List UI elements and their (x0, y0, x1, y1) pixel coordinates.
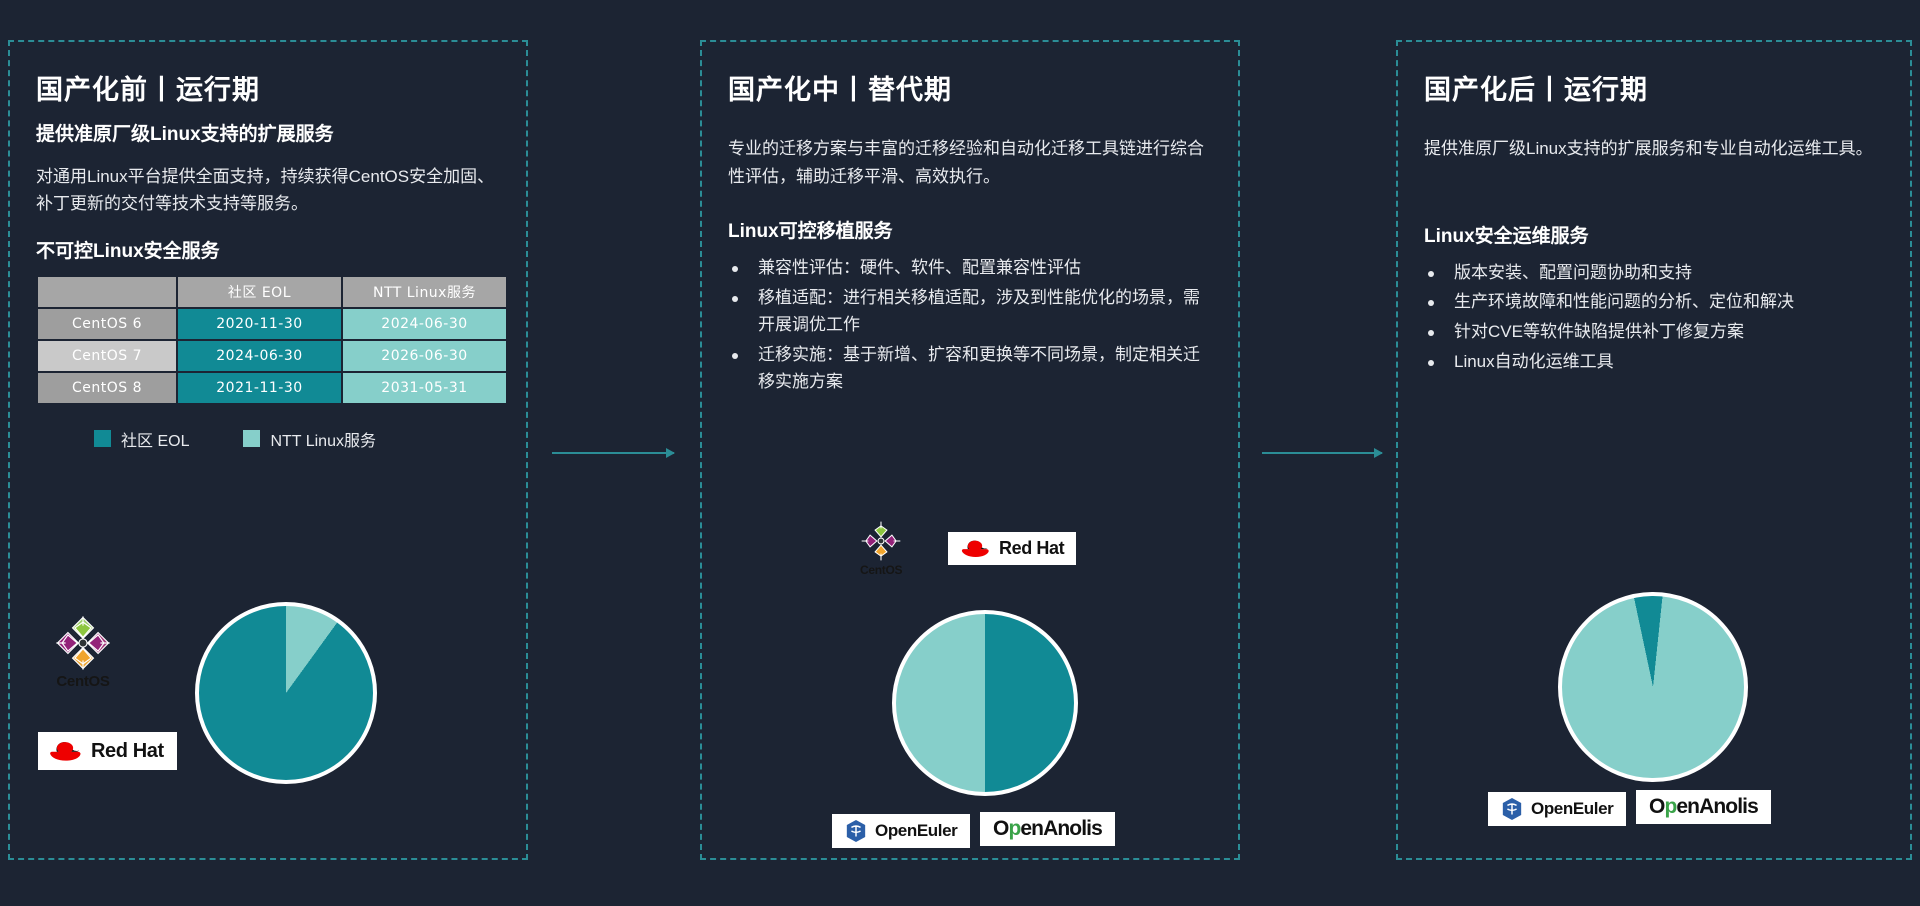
pie-chart-after (1558, 592, 1748, 782)
openanolis-logo: OpenAnolis (980, 812, 1115, 846)
list-item: 迁移实施：基于新增、扩容和更换等不同场景，制定相关迁移实施方案 (728, 342, 1212, 396)
cell-os-name: CentOS 7 (38, 341, 176, 371)
cell-community-eol: 2020-11-30 (178, 309, 341, 339)
centos-mark-icon (54, 614, 112, 672)
openeuler-logo: OpenEuler (1488, 792, 1626, 826)
redhat-fedora-icon (48, 739, 82, 763)
openeuler-mark-icon (1501, 797, 1523, 821)
centos-mark-icon (860, 520, 902, 562)
table-header-community-eol: 社区 EOL (178, 277, 341, 307)
panel-2-bullet-list: 兼容性评估：硬件、软件、配置兼容性评估 移植适配：进行相关移植适配，涉及到性能优… (728, 255, 1212, 395)
table-header-row: 社区 EOL NTT Linux服务 (38, 277, 506, 307)
redhat-fedora-icon (960, 538, 990, 559)
redhat-wordmark: Red Hat (999, 538, 1064, 559)
panel-2-section-heading: Linux可控移植服务 (728, 216, 1212, 243)
panel-3-title: 国产化后丨运行期 (1424, 68, 1884, 107)
panel-3-bullet-list: 版本安装、配置问题协助和支持 生产环境故障和性能问题的分析、定位和解决 针对CV… (1424, 260, 1884, 376)
cell-os-name: CentOS 8 (38, 373, 176, 403)
cell-ntt-eol: 2031-05-31 (343, 373, 506, 403)
cell-os-name: CentOS 6 (38, 309, 176, 339)
centos-logo: CentOS (54, 614, 112, 690)
list-item: 版本安装、配置问题协助和支持 (1424, 260, 1884, 287)
centos-wordmark: CentOS (54, 673, 112, 690)
legend-swatch-icon (94, 430, 111, 447)
legend-item-community-eol: 社区 EOL (94, 427, 189, 451)
redhat-logo: Red Hat (948, 532, 1076, 565)
table-row: CentOS 8 2021-11-30 2031-05-31 (38, 373, 506, 403)
openeuler-logo: OpenEuler (832, 814, 970, 848)
openanolis-logo: OpenAnolis (1636, 790, 1771, 824)
table-row: CentOS 7 2024-06-30 2026-06-30 (38, 341, 506, 371)
legend-label: NTT Linux服务 (270, 427, 376, 451)
openanolis-wordmark: OpenAnolis (1649, 795, 1758, 819)
legend-swatch-icon (243, 430, 260, 447)
openeuler-wordmark: OpenEuler (1531, 799, 1613, 819)
centos-wordmark: CentOS (860, 563, 902, 577)
openeuler-mark-icon (845, 819, 867, 843)
table-legend: 社区 EOL NTT Linux服务 (36, 427, 500, 451)
panel-during-localization: 国产化中丨替代期 专业的迁移方案与丰富的迁移经验和自动化迁移工具链进行综合性评估… (700, 40, 1240, 860)
list-item: 生产环境故障和性能问题的分析、定位和解决 (1424, 289, 1884, 316)
cell-community-eol: 2024-06-30 (178, 341, 341, 371)
infographic-board: 国产化前丨运行期 提供准原厂级Linux支持的扩展服务 对通用Linux平台提供… (0, 0, 1920, 906)
cell-community-eol: 2021-11-30 (178, 373, 341, 403)
panel-3-description: 提供准原厂级Linux支持的扩展服务和专业自动化运维工具。 (1424, 135, 1884, 163)
panel-1-subtitle: 提供准原厂级Linux支持的扩展服务 (36, 121, 500, 149)
panel-1-title: 国产化前丨运行期 (36, 68, 500, 107)
flow-arrow-1-icon (552, 452, 674, 454)
pie-chart-before (195, 602, 377, 784)
table-header-ntt-linux: NTT Linux服务 (343, 277, 506, 307)
list-item: 兼容性评估：硬件、软件、配置兼容性评估 (728, 255, 1212, 282)
panel-3-section-heading: Linux安全运维服务 (1424, 221, 1884, 248)
panel-1-description: 对通用Linux平台提供全面支持，持续获得CentOS安全加固、补丁更新的交付等… (36, 163, 500, 218)
flow-arrow-2-icon (1262, 452, 1382, 454)
panel-2-description: 专业的迁移方案与丰富的迁移经验和自动化迁移工具链进行综合性评估，辅助迁移平滑、高… (728, 135, 1212, 190)
legend-label: 社区 EOL (121, 427, 189, 451)
table-row: CentOS 6 2020-11-30 2024-06-30 (38, 309, 506, 339)
pie-chart-during (892, 610, 1078, 796)
centos-logo: CentOS (860, 520, 902, 577)
cell-ntt-eol: 2026-06-30 (343, 341, 506, 371)
centos-eol-table: 社区 EOL NTT Linux服务 CentOS 6 2020-11-30 2… (36, 275, 508, 405)
list-item: 移植适配：进行相关移植适配，涉及到性能优化的场景，需开展调优工作 (728, 285, 1212, 339)
legend-item-ntt-linux: NTT Linux服务 (243, 427, 376, 451)
openanolis-wordmark: OpenAnolis (993, 817, 1102, 841)
openeuler-wordmark: OpenEuler (875, 821, 957, 841)
redhat-wordmark: Red Hat (91, 740, 164, 763)
panel-2-title: 国产化中丨替代期 (728, 68, 1212, 107)
panel-before-localization: 国产化前丨运行期 提供准原厂级Linux支持的扩展服务 对通用Linux平台提供… (8, 40, 528, 860)
table-header-blank (38, 277, 176, 307)
panel-1-section-heading: 不可控Linux安全服务 (36, 236, 500, 263)
cell-ntt-eol: 2024-06-30 (343, 309, 506, 339)
list-item: 针对CVE等软件缺陷提供补丁修复方案 (1424, 319, 1884, 346)
panel-after-localization: 国产化后丨运行期 提供准原厂级Linux支持的扩展服务和专业自动化运维工具。 L… (1396, 40, 1912, 860)
list-item: Linux自动化运维工具 (1424, 349, 1884, 376)
redhat-logo: Red Hat (38, 732, 177, 770)
